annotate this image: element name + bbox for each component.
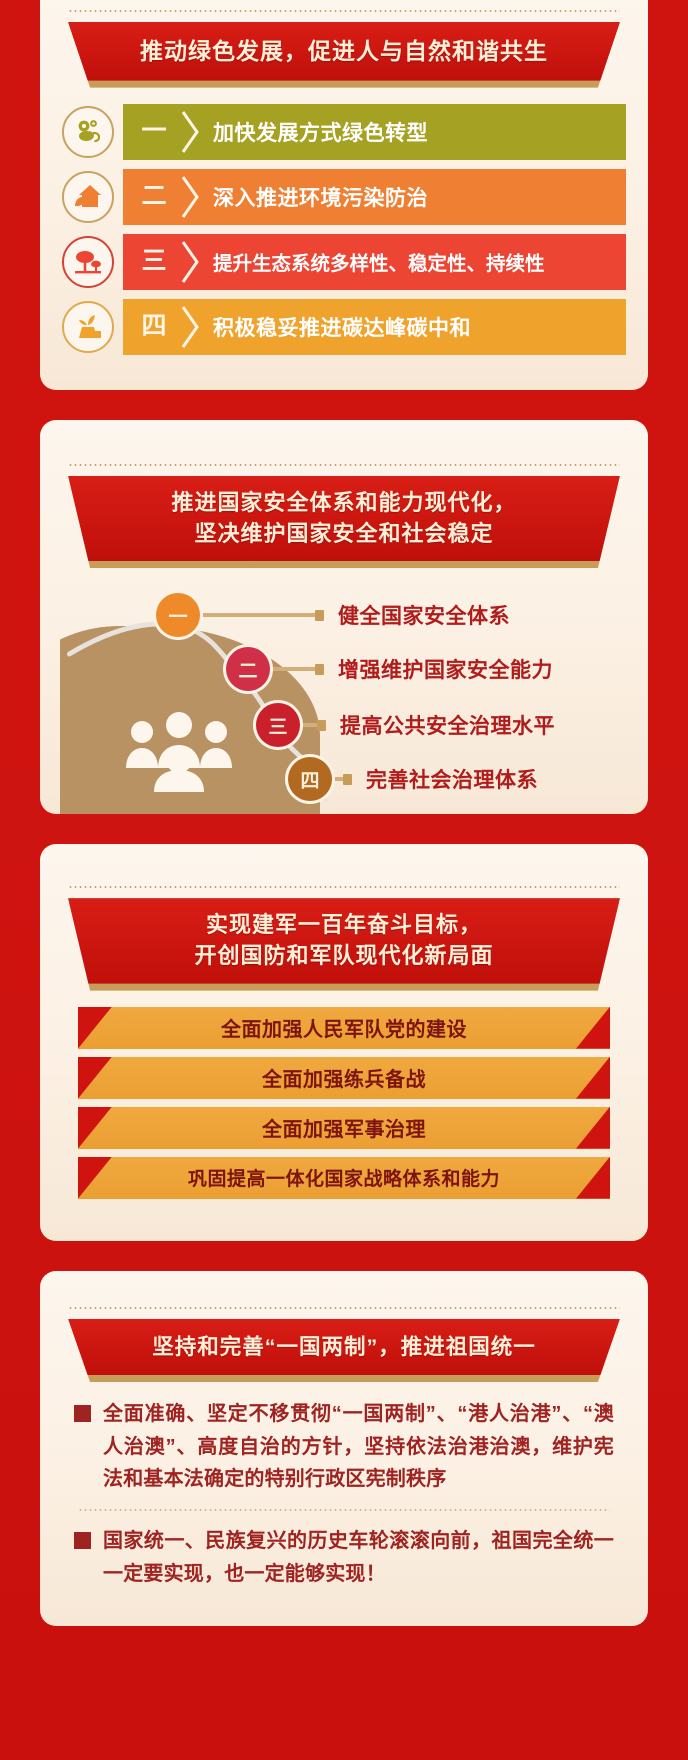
security-item-label: 健全国家安全体系	[338, 600, 510, 630]
section-card-one-country-two-systems: 坚持和完善“一国两制”，推进祖国统一 全面准确、坚定不移贯彻“一国两制”、“港人…	[40, 1271, 648, 1626]
security-item-3[interactable]: 三 提高公共安全治理水平	[256, 710, 555, 740]
item-label: 加快发展方式绿色转型	[185, 117, 428, 147]
ribbon-corner-left	[78, 1057, 112, 1099]
ribbon-corner-right	[576, 1157, 610, 1199]
section-card-military-modernization: 实现建军一百年奋斗目标， 开创国防和军队现代化新局面 全面加强人民军队党的建设 …	[40, 844, 648, 1240]
bullet-item: 国家统一、民族复兴的历史车轮滚滚向前，祖国完全统一一定要实现，也一定能够实现！	[74, 1525, 614, 1590]
chevron-right-icon	[181, 240, 199, 284]
section-card-national-security: 推进国家安全体系和能力现代化， 坚决维护国家安全和社会稳定	[40, 420, 648, 814]
military-item-list: 全面加强人民军队党的建设 全面加强练兵备战 全面加强军事治理 巩固提高一体化国家…	[78, 1007, 610, 1199]
list-item[interactable]: 二 深入推进环境污染防治	[62, 169, 626, 225]
security-item-label: 完善社会治理体系	[366, 764, 538, 794]
bullet-text: 全面准确、坚定不移贯彻“一国两制”、“港人治港”、“澳人治澳”、高度自治的方针，…	[103, 1398, 614, 1495]
security-item-2[interactable]: 二 增强维护国家安全能力	[226, 654, 553, 684]
section-title-line-2: 开创国防和军队现代化新局面	[84, 940, 604, 971]
section-title-line-2: 坚决维护国家安全和社会稳定	[84, 518, 604, 549]
pin-marker: 三	[256, 703, 300, 747]
item-label: 全面加强练兵备战	[262, 1063, 426, 1092]
list-item[interactable]: 全面加强军事治理	[78, 1107, 610, 1149]
pin-number: 二	[238, 656, 257, 683]
section-title-line-1: 实现建军一百年奋斗目标，	[84, 909, 604, 940]
item-label: 全面加强军事治理	[262, 1113, 426, 1142]
connector-end-cap	[343, 774, 352, 785]
infographic-page: 推动绿色发展，促进人与自然和谐共生 一	[0, 0, 688, 1760]
pin-marker: 二	[226, 647, 270, 691]
chevron-right-icon	[181, 305, 199, 349]
square-bullet-icon	[74, 1532, 91, 1549]
one-country-two-systems-bullet-list: 全面准确、坚定不移贯彻“一国两制”、“港人治港”、“澳人治澳”、高度自治的方针，…	[74, 1398, 614, 1590]
national-security-diagram: 一 健全国家安全体系 二 增强维护国家安全能力 三	[60, 584, 628, 814]
item-label: 全面加强人民军队党的建设	[221, 1013, 467, 1042]
section-banner-green-development: 推动绿色发展，促进人与自然和谐共生	[68, 22, 620, 88]
security-item-label: 提高公共安全治理水平	[340, 710, 555, 740]
decorative-dotted-rule	[68, 464, 620, 466]
green-development-item-list: 一 加快发展方式绿色转型 二	[62, 104, 626, 355]
section-title-green-development: 推动绿色发展，促进人与自然和谐共生	[68, 22, 620, 81]
item-number: 二	[123, 184, 185, 209]
chevron-right-icon	[181, 175, 199, 219]
pin-number: 三	[268, 712, 287, 739]
item-bar: 三 提升生态系统多样性、稳定性、持续性	[123, 234, 626, 290]
list-item[interactable]: 巩固提高一体化国家战略体系和能力	[78, 1157, 610, 1199]
item-label: 深入推进环境污染防治	[185, 182, 428, 212]
chevron-right-icon	[181, 110, 199, 154]
item-label: 积极稳妥推进碳达峰碳中和	[185, 312, 471, 342]
ribbon-corner-right	[576, 1057, 610, 1099]
item-number: 一	[123, 119, 185, 144]
list-item[interactable]: 三 提升生态系统多样性、稳定性、持续性	[62, 234, 626, 290]
item-bar: 二 深入推进环境污染防治	[123, 169, 626, 225]
pin-number: 一	[168, 602, 187, 629]
section-banner-military: 实现建军一百年奋斗目标， 开创国防和军队现代化新局面	[68, 898, 620, 990]
item-number: 三	[123, 249, 185, 274]
house-leaf-icon	[62, 171, 114, 223]
bullet-separator-rule	[78, 1509, 610, 1511]
list-item[interactable]: 四 积极稳妥推进碳达峰碳中和	[62, 299, 626, 355]
section-title-military: 实现建军一百年奋斗目标， 开创国防和军队现代化新局面	[68, 898, 620, 983]
pin-marker: 四	[288, 757, 332, 801]
item-bar: 一 加快发展方式绿色转型	[123, 104, 626, 160]
sprout-factory-icon	[62, 301, 114, 353]
gear-leaf-icon	[62, 106, 114, 158]
decorative-dotted-rule	[68, 886, 620, 888]
item-bar: 四 积极稳妥推进碳达峰碳中和	[123, 299, 626, 355]
ribbon-corner-right	[576, 1007, 610, 1049]
connector-line	[182, 613, 316, 617]
section-title-national-security: 推进国家安全体系和能力现代化， 坚决维护国家安全和社会稳定	[68, 476, 620, 561]
ribbon-corner-left	[78, 1007, 112, 1049]
ribbon-corner-left	[78, 1157, 112, 1199]
section-title-line-1: 推进国家安全体系和能力现代化，	[84, 487, 604, 518]
section-title-one-country-two-systems: 坚持和完善“一国两制”，推进祖国统一	[68, 1319, 620, 1376]
list-item[interactable]: 一 加快发展方式绿色转型	[62, 104, 626, 160]
ribbon-corner-left	[78, 1107, 112, 1149]
security-item-label: 增强维护国家安全能力	[338, 654, 553, 684]
bullet-text: 国家统一、民族复兴的历史车轮滚滚向前，祖国完全统一一定要实现，也一定能够实现！	[103, 1525, 614, 1590]
connector-end-cap	[315, 610, 324, 621]
pin-number: 四	[300, 766, 319, 793]
section-banner-one-country-two-systems: 坚持和完善“一国两制”，推进祖国统一	[68, 1319, 620, 1383]
section-card-green-development: 推动绿色发展，促进人与自然和谐共生 一	[40, 0, 648, 390]
tree-icon	[62, 236, 114, 288]
pin-marker: 一	[156, 593, 200, 637]
decorative-dotted-rule	[68, 10, 620, 12]
item-label: 巩固提高一体化国家战略体系和能力	[188, 1164, 500, 1191]
decorative-dotted-rule	[68, 1307, 620, 1309]
section-banner-national-security: 推进国家安全体系和能力现代化， 坚决维护国家安全和社会稳定	[68, 476, 620, 568]
security-item-4[interactable]: 四 完善社会治理体系	[288, 764, 538, 794]
people-group-icon	[120, 712, 240, 792]
connector-end-cap	[317, 720, 326, 731]
item-number: 四	[123, 314, 185, 339]
list-item[interactable]: 全面加强练兵备战	[78, 1057, 610, 1099]
item-label: 提升生态系统多样性、稳定性、持续性	[185, 247, 545, 276]
bullet-item: 全面准确、坚定不移贯彻“一国两制”、“港人治港”、“澳人治澳”、高度自治的方针，…	[74, 1398, 614, 1495]
list-item[interactable]: 全面加强人民军队党的建设	[78, 1007, 610, 1049]
square-bullet-icon	[74, 1405, 91, 1422]
security-item-1[interactable]: 一 健全国家安全体系	[156, 600, 510, 630]
ribbon-corner-right	[576, 1107, 610, 1149]
connector-end-cap	[315, 664, 324, 675]
